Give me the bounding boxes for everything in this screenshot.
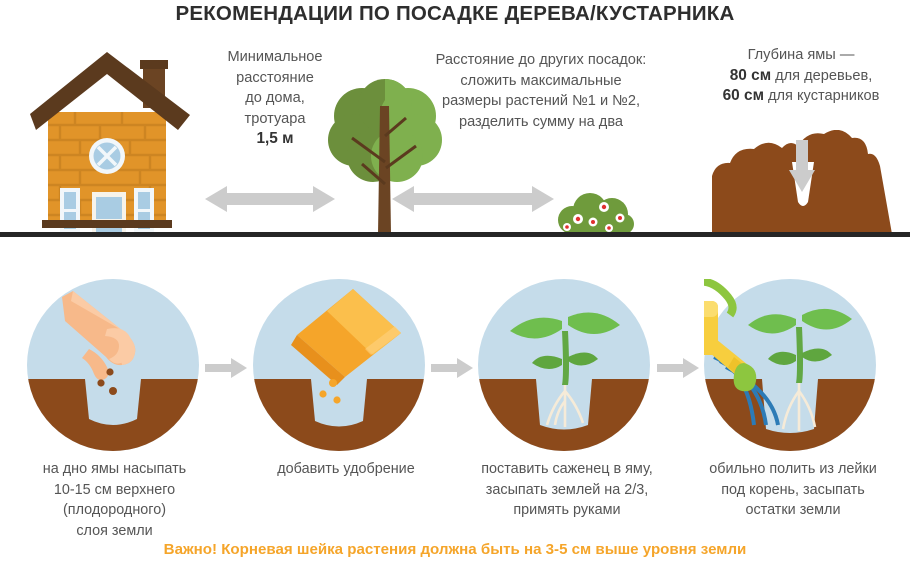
step-3-caption: поставить саженец в яму, засыпать землей… xyxy=(453,459,681,521)
arrow-right-icon xyxy=(657,358,699,378)
step-3-illustration xyxy=(478,279,650,451)
house-distance-line-2: расстояние xyxy=(186,68,364,89)
plant-distance-line-2: сложить максимальные xyxy=(410,71,672,92)
step-1-illustration xyxy=(27,279,199,451)
house-distance-line-3: до дома, xyxy=(186,88,364,109)
house-distance-line-4: тротуара xyxy=(186,109,364,130)
house-distance-caption: Минимальное расстояние до дома, тротуара… xyxy=(186,47,364,150)
double-arrow-horizontal-icon xyxy=(392,186,554,212)
arrow-down-icon xyxy=(789,140,815,192)
warning-text: Важно! Корневая шейка растения должна бы… xyxy=(0,541,910,558)
double-arrow-horizontal-icon xyxy=(205,186,335,212)
step-4-caption: обильно полить из лейки под корень, засы… xyxy=(676,459,910,521)
step-2-caption: добавить удобрение xyxy=(236,459,456,480)
pit-depth-tree-text: для деревьев, xyxy=(771,68,872,84)
arrow-right-icon xyxy=(431,358,473,378)
step-4-illustration xyxy=(704,279,876,451)
pit-depth-tree-value: 80 см xyxy=(730,67,771,84)
plant-distance-line-1: Расстояние до других посадок: xyxy=(410,50,672,71)
plant-distance-line-3: размеры растений №1 и №2, xyxy=(410,91,672,112)
pit-depth-lead: Глубина ямы — xyxy=(692,45,910,66)
house-distance-value: 1,5 м xyxy=(256,130,293,147)
pit-depth-shrub-text: для кустарников xyxy=(764,88,879,104)
ground-line xyxy=(0,232,910,237)
plant-distance-line-4: разделить сумму на два xyxy=(410,112,672,133)
house-distance-line-1: Минимальное xyxy=(186,47,364,68)
pit-depth-caption: Глубина ямы — 80 см для деревьев, 60 см … xyxy=(692,45,910,107)
pit-depth-shrub-value: 60 см xyxy=(723,87,764,104)
plant-distance-caption: Расстояние до других посадок: сложить ма… xyxy=(410,50,672,132)
shrub-icon xyxy=(556,192,634,234)
step-1-caption: на дно ямы насыпать 10-15 см верхнего (п… xyxy=(2,459,227,541)
arrow-right-icon xyxy=(205,358,247,378)
page-title: РЕКОМЕНДАЦИИ ПО ПОСАДКЕ ДЕРЕВА/КУСТАРНИК… xyxy=(0,2,910,26)
step-2-illustration xyxy=(253,279,425,451)
house-icon xyxy=(30,52,190,234)
